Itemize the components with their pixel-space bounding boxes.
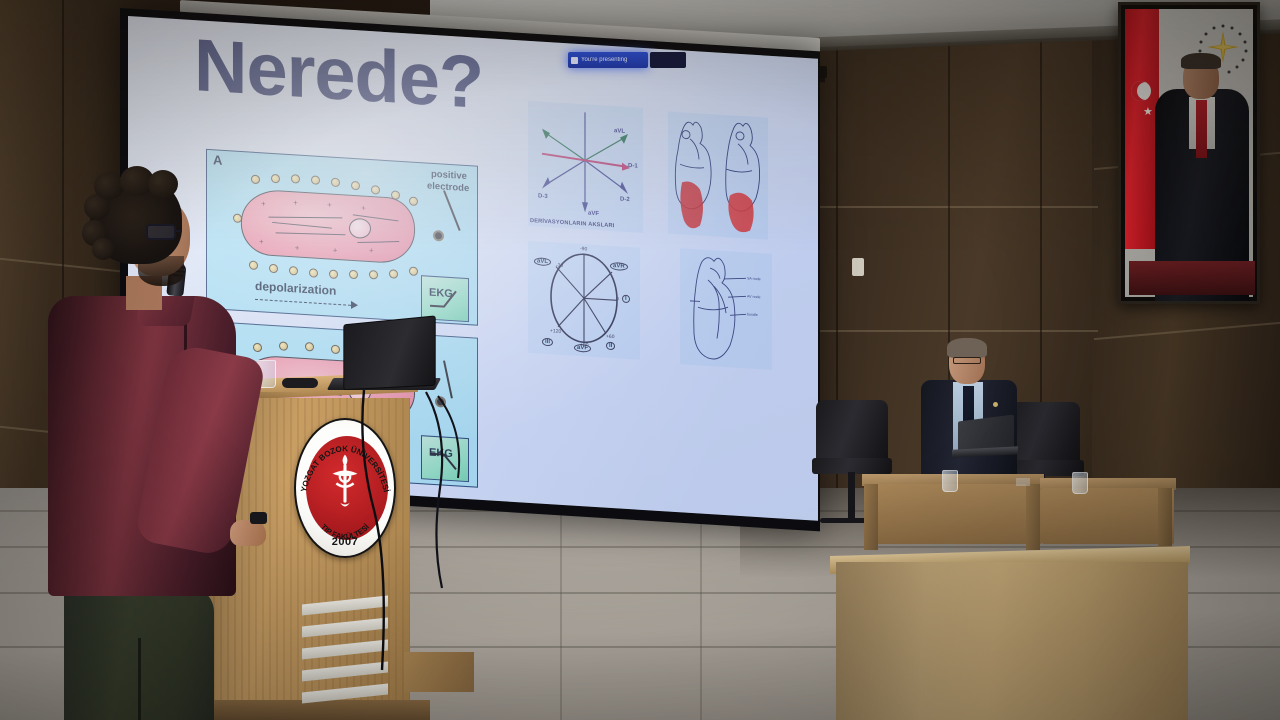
presenting-indicator[interactable]: You're presenting — [568, 52, 648, 68]
wall-seam — [836, 40, 838, 560]
water-glass — [942, 470, 958, 492]
svg-text:SA node: SA node — [747, 276, 761, 281]
portrait-lower-banner — [1129, 261, 1255, 295]
electrode-label-line2: electrode — [427, 182, 469, 195]
hexaxial-tag-iii: III — [542, 338, 553, 347]
portrait-subject-tie — [1196, 100, 1207, 158]
electrode-terminal — [433, 230, 444, 242]
slide-title: Nerede? — [194, 28, 483, 120]
cables — [330, 388, 470, 678]
cardiac-cell-diagram: + + + + + + + + — [239, 188, 416, 265]
svg-text:AV node: AV node — [747, 294, 761, 299]
cell-nucleus — [348, 217, 371, 238]
presenter-clicker — [250, 512, 267, 524]
presenter — [34, 168, 244, 720]
moderator-glasses — [953, 357, 981, 364]
table-leg — [1158, 488, 1172, 550]
axis-label-d2: D-2 — [620, 197, 630, 204]
flag-crescent-icon — [1131, 81, 1151, 101]
water-glass — [1072, 472, 1088, 494]
flag-star-icon: ★ — [1143, 105, 1153, 118]
hexaxial-reference-diagram: -90 -30 0 +90 +120 +60 aVL aVR I III aVF… — [528, 241, 640, 360]
electrode-lead — [443, 190, 461, 231]
wooden-bench-shading — [836, 562, 1188, 720]
axis-label-d1: D-1 — [628, 163, 638, 170]
laptop-screen — [343, 315, 435, 390]
moderator-hair — [947, 338, 987, 358]
heart-conduction-figure: SA node AV node bundle — [680, 248, 772, 370]
slide-panel-a: A — [206, 149, 478, 326]
axis-label-d3: D-3 — [538, 193, 548, 200]
presenter-hair — [90, 176, 182, 264]
glasses-bridge — [174, 230, 182, 232]
panel-table-front — [864, 484, 1042, 544]
turkish-flag: ★ — [1125, 9, 1159, 249]
panel-a-letter: A — [213, 152, 222, 168]
depolarization-label: depolarization — [255, 279, 336, 298]
wall-speaker — [852, 258, 864, 276]
table-item — [1016, 478, 1030, 486]
presenter-remote — [282, 378, 318, 388]
depolarization-arrow — [255, 299, 351, 306]
chair-post — [848, 472, 855, 520]
lead-axes-diagram: aVL D-1 D-3 D-2 aVF DERİVASYONLARIN AKSL… — [528, 101, 643, 233]
panel-table-front — [1042, 488, 1174, 544]
svg-text:bundle: bundle — [747, 312, 758, 317]
portrait-subject-hair — [1181, 53, 1221, 69]
table-leg — [1026, 484, 1040, 550]
axis-label-avf: aVF — [588, 211, 599, 218]
presenting-icon — [571, 57, 578, 64]
axis-label-avl: aVL — [614, 128, 625, 135]
ekg-trace-a — [430, 288, 462, 312]
office-chair — [816, 400, 888, 462]
hexaxial-tag-i: I — [622, 295, 630, 303]
presenting-label: You're presenting — [581, 57, 627, 63]
lapel-pin — [993, 402, 998, 407]
depolarization-arrowhead — [351, 301, 358, 309]
presenting-toolbar-extra[interactable] — [650, 52, 686, 68]
presenter-glasses — [146, 224, 176, 240]
presenter-leg-seam — [138, 638, 141, 720]
lecture-hall-photo: Nerede? A — [0, 0, 1280, 720]
table-leg — [864, 484, 878, 550]
wall-portrait-frame: ★ — [1118, 2, 1260, 304]
heart-figures-pair — [668, 112, 768, 240]
